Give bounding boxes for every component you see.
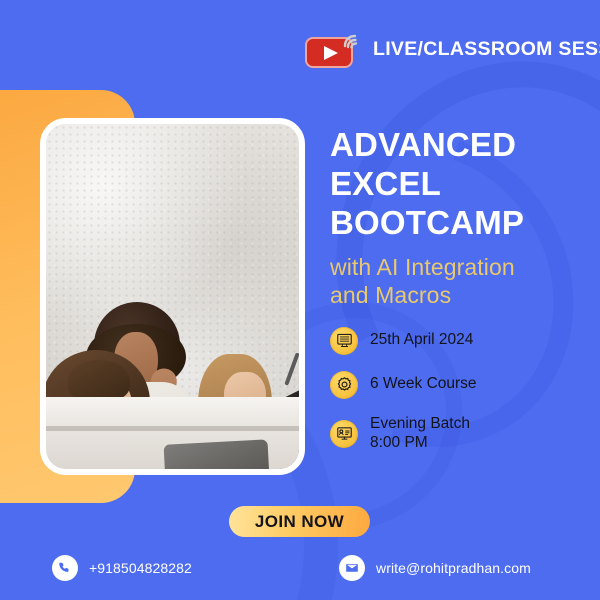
subheadline-line-1: with AI Integration (330, 253, 582, 281)
feature-label: 6 Week Course (370, 375, 477, 394)
email-address: write@rohitpradhan.com (376, 560, 531, 576)
join-now-label: JOIN NOW (255, 512, 344, 532)
headline-line-2: EXCEL (330, 165, 582, 204)
subheadline-line-2: and Macros (330, 281, 582, 309)
feature-item-duration: 6 Week Course (330, 371, 582, 399)
calendar-monitor-icon (330, 327, 358, 355)
feature-item-date: 25th April 2024 (330, 327, 582, 355)
contact-phone[interactable]: +918504828282 (52, 555, 192, 581)
join-now-button[interactable]: JOIN NOW (229, 506, 370, 537)
footer-contact-bar: +918504828282 write@rohitpradhan.com (0, 552, 600, 600)
page-subtitle: with AI Integration and Macros (330, 253, 582, 309)
feature-item-batch: Evening Batch 8:00 PM (330, 415, 582, 453)
contact-email[interactable]: write@rohitpradhan.com (339, 555, 531, 581)
headline-line-1: ADVANCED (330, 126, 582, 165)
phone-number: +918504828282 (89, 560, 192, 576)
gear-icon (330, 371, 358, 399)
youtube-play-broadcast-icon (305, 28, 361, 70)
phone-icon (52, 555, 78, 581)
envelope-icon (339, 555, 365, 581)
page-title: ADVANCED EXCEL BOOTCAMP (330, 126, 582, 243)
promotional-poster: LIVE/CLASSROOM SESSIONS ADVANCED EXCEL B… (0, 0, 600, 600)
hero-photo-card (40, 118, 305, 475)
presentation-monitor-icon (330, 420, 358, 448)
feature-label: 25th April 2024 (370, 331, 473, 350)
headline-line-3: BOOTCAMP (330, 204, 582, 243)
feature-list: 25th April 2024 6 Week Course (330, 327, 582, 453)
live-sessions-label: LIVE/CLASSROOM SESSIONS (373, 38, 600, 61)
feature-label: Evening Batch 8:00 PM (370, 415, 470, 453)
content-column: ADVANCED EXCEL BOOTCAMP with AI Integrat… (330, 126, 582, 469)
live-sessions-badge: LIVE/CLASSROOM SESSIONS (305, 28, 600, 70)
